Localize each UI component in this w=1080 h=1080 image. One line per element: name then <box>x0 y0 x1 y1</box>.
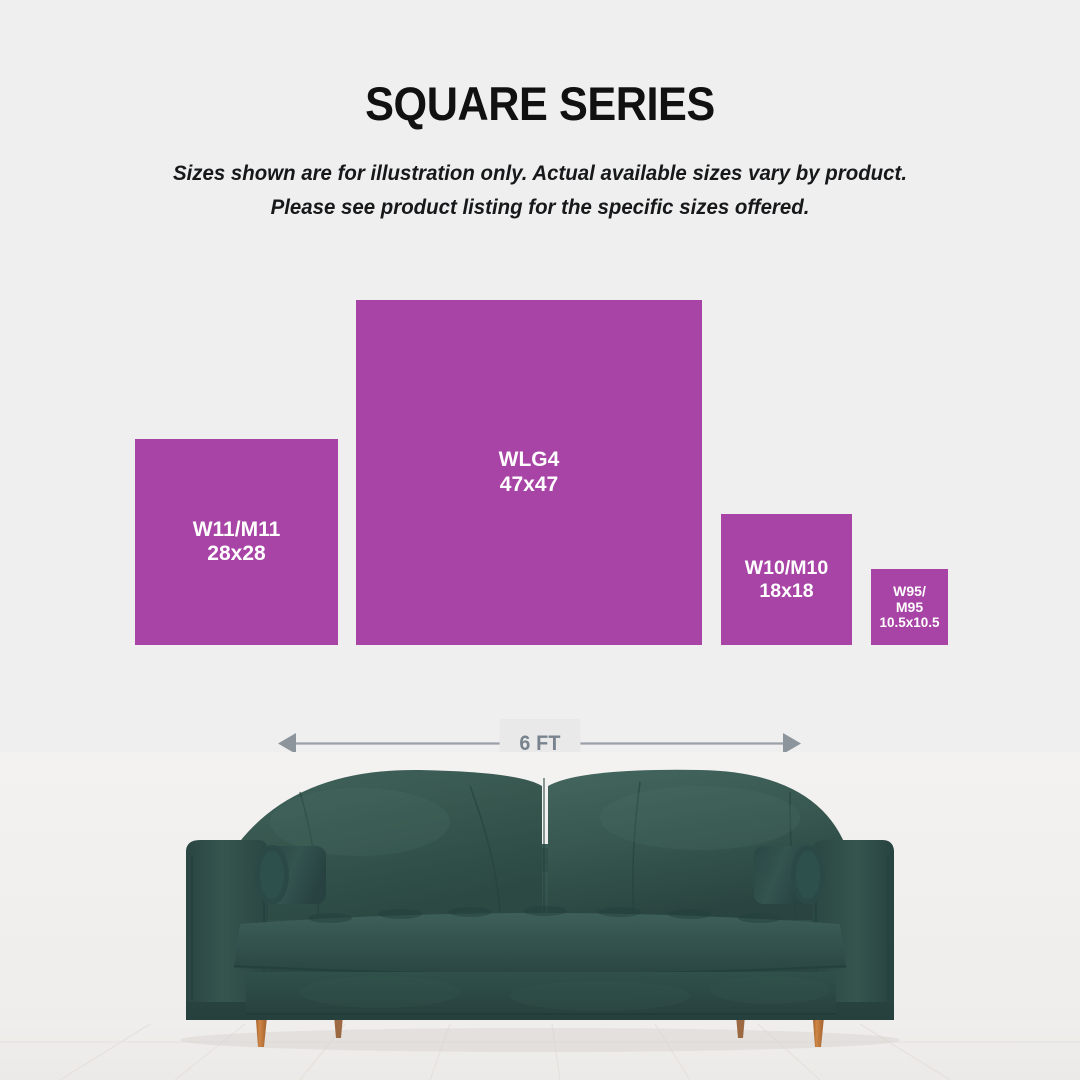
swatch-code-w95-m95: W95/ M95 <box>893 583 926 615</box>
bolster-pillow-right <box>754 845 825 905</box>
swatch-code-w10-m10: W10/M10 <box>745 557 828 580</box>
swatch-dims-w11-m11: 28x28 <box>207 542 265 566</box>
size-swatch-wlg4[interactable]: WLG4 47x47 <box>356 300 702 645</box>
swatch-dims-w95-m95: 10.5x10.5 <box>879 615 939 631</box>
sofa-floor-shadow <box>180 1028 900 1052</box>
size-swatch-w10-m10[interactable]: W10/M10 18x18 <box>721 514 852 645</box>
swatch-dims-w10-m10: 18x18 <box>759 580 813 603</box>
swatch-code-wlg4: WLG4 <box>499 448 560 472</box>
swatch-code-w11-m11: W11/M11 <box>193 518 281 542</box>
disclaimer-text: Sizes shown are for illustration only. A… <box>113 156 968 224</box>
disclaimer-line-1: Sizes shown are for illustration only. A… <box>113 156 968 190</box>
sofa-scene-image <box>0 752 1080 1080</box>
arrow-right-head-icon <box>783 733 801 754</box>
swatch-dims-wlg4: 47x47 <box>500 473 558 497</box>
page-title: SQUARE SERIES <box>43 76 1037 131</box>
size-swatch-w95-m95[interactable]: W95/ M95 10.5x10.5 <box>871 569 948 645</box>
arrow-left-head-icon <box>278 733 296 754</box>
disclaimer-line-2: Please see product listing for the speci… <box>113 190 968 224</box>
bolster-pillow-left <box>255 845 326 905</box>
size-swatch-w11-m11[interactable]: W11/M11 28x28 <box>135 439 338 645</box>
size-comparison-infographic: SQUARE SERIES Sizes shown are for illust… <box>0 0 1080 1080</box>
